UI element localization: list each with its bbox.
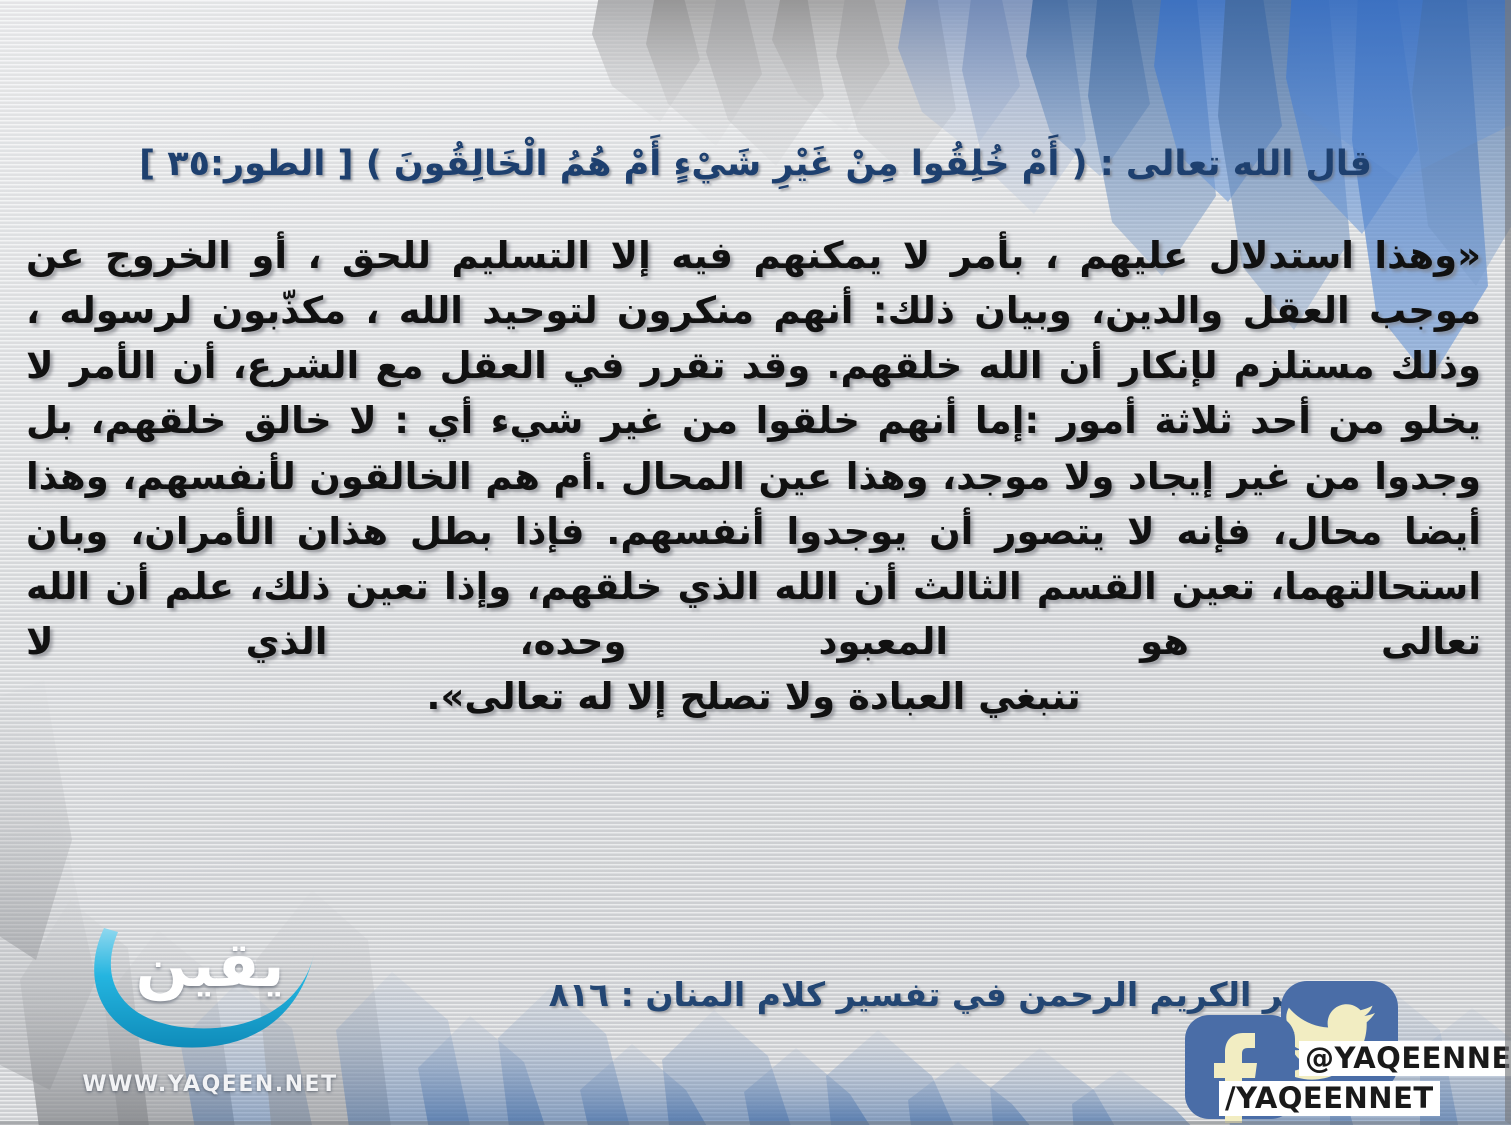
tafsir-paragraph: «وهذا استدلال عليهم ، بأمر لا يمكنهم فيه… bbox=[26, 228, 1481, 669]
quran-verse-line: قال الله تعالى : ( أَمْ خُلِقُوا مِنْ غَ… bbox=[34, 143, 1477, 187]
facebook-handle[interactable]: /YAQEENNET bbox=[1219, 1081, 1440, 1116]
twitter-handle[interactable]: @YAQEENNET bbox=[1299, 1041, 1511, 1076]
yaqeen-logo[interactable]: يقين WWW.YAQEEN.NET bbox=[70, 910, 350, 1115]
social-links: @YAQEENNET /YAQEENNET bbox=[1157, 981, 1497, 1121]
tafsir-last-line: تنبغي العبادة ولا تصلح إلا له تعالى». bbox=[26, 669, 1481, 724]
quote-card: قال الله تعالى : ( أَمْ خُلِقُوا مِنْ غَ… bbox=[0, 0, 1511, 1125]
logo-wordmark: يقين bbox=[70, 928, 350, 1001]
tafsir-body: «وهذا استدلال عليهم ، بأمر لا يمكنهم فيه… bbox=[26, 228, 1481, 724]
logo-mark: يقين bbox=[70, 910, 350, 1060]
logo-website-url: WWW.YAQEEN.NET bbox=[70, 1072, 350, 1097]
